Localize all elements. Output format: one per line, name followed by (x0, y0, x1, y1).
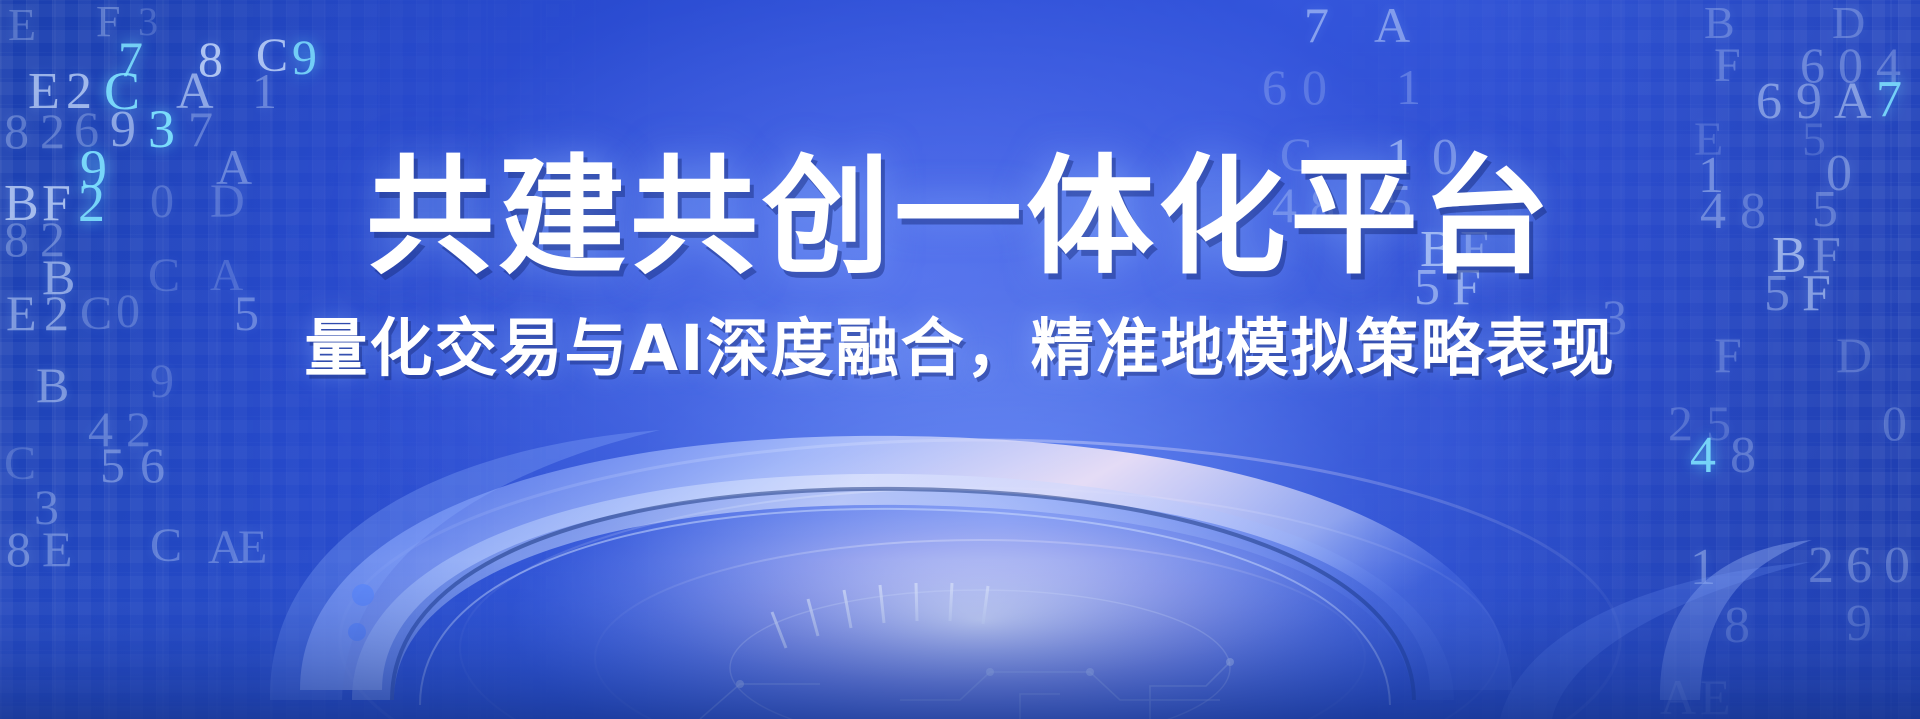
banner-title: 共建共创一体化平台 (0, 150, 1920, 286)
banner-subtitle: 量化交易与AI深度融合，精准地模拟策略表现 (0, 314, 1920, 383)
banner-copy: 共建共创一体化平台 量化交易与AI深度融合，精准地模拟策略表现 (0, 150, 1920, 383)
hero-banner: EF378C9E2CA18269379ABF20D82BCAE2C05B942C… (0, 0, 1920, 719)
